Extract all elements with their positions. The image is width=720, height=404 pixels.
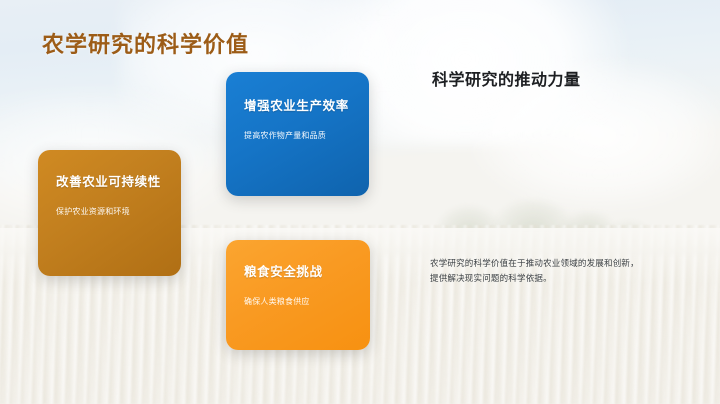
card-title: 改善农业可持续性 [56, 174, 163, 190]
body-paragraph: 农学研究的科学价值在于推动农业领域的发展和创新， 提供解决现实问题的科学依据。 [430, 256, 680, 286]
card-title: 粮食安全挑战 [244, 264, 352, 280]
card-enhance-efficiency[interactable]: 增强农业生产效率 提高农作物产量和品质 [226, 72, 369, 196]
section-heading-driving-force: 科学研究的推动力量 [432, 66, 581, 90]
card-description: 确保人类粮食供应 [244, 296, 352, 308]
paragraph-line-1: 农学研究的科学价值在于推动农业领域的发展和创新， [430, 256, 680, 271]
slide-canvas: 农学研究的科学价值 增强农业生产效率 提高农作物产量和品质 改善农业可持续性 保… [0, 0, 720, 404]
paragraph-line-2: 提供解决现实问题的科学依据。 [430, 271, 680, 286]
card-description: 提高农作物产量和品质 [244, 130, 344, 142]
page-title: 农学研究的科学价值 [42, 27, 249, 59]
card-description: 保护农业资源和环境 [56, 206, 163, 218]
card-improve-sustainability[interactable]: 改善农业可持续性 保护农业资源和环境 [38, 150, 181, 276]
card-title: 增强农业生产效率 [244, 98, 351, 114]
card-food-security-challenge[interactable]: 粮食安全挑战 确保人类粮食供应 [226, 240, 370, 350]
